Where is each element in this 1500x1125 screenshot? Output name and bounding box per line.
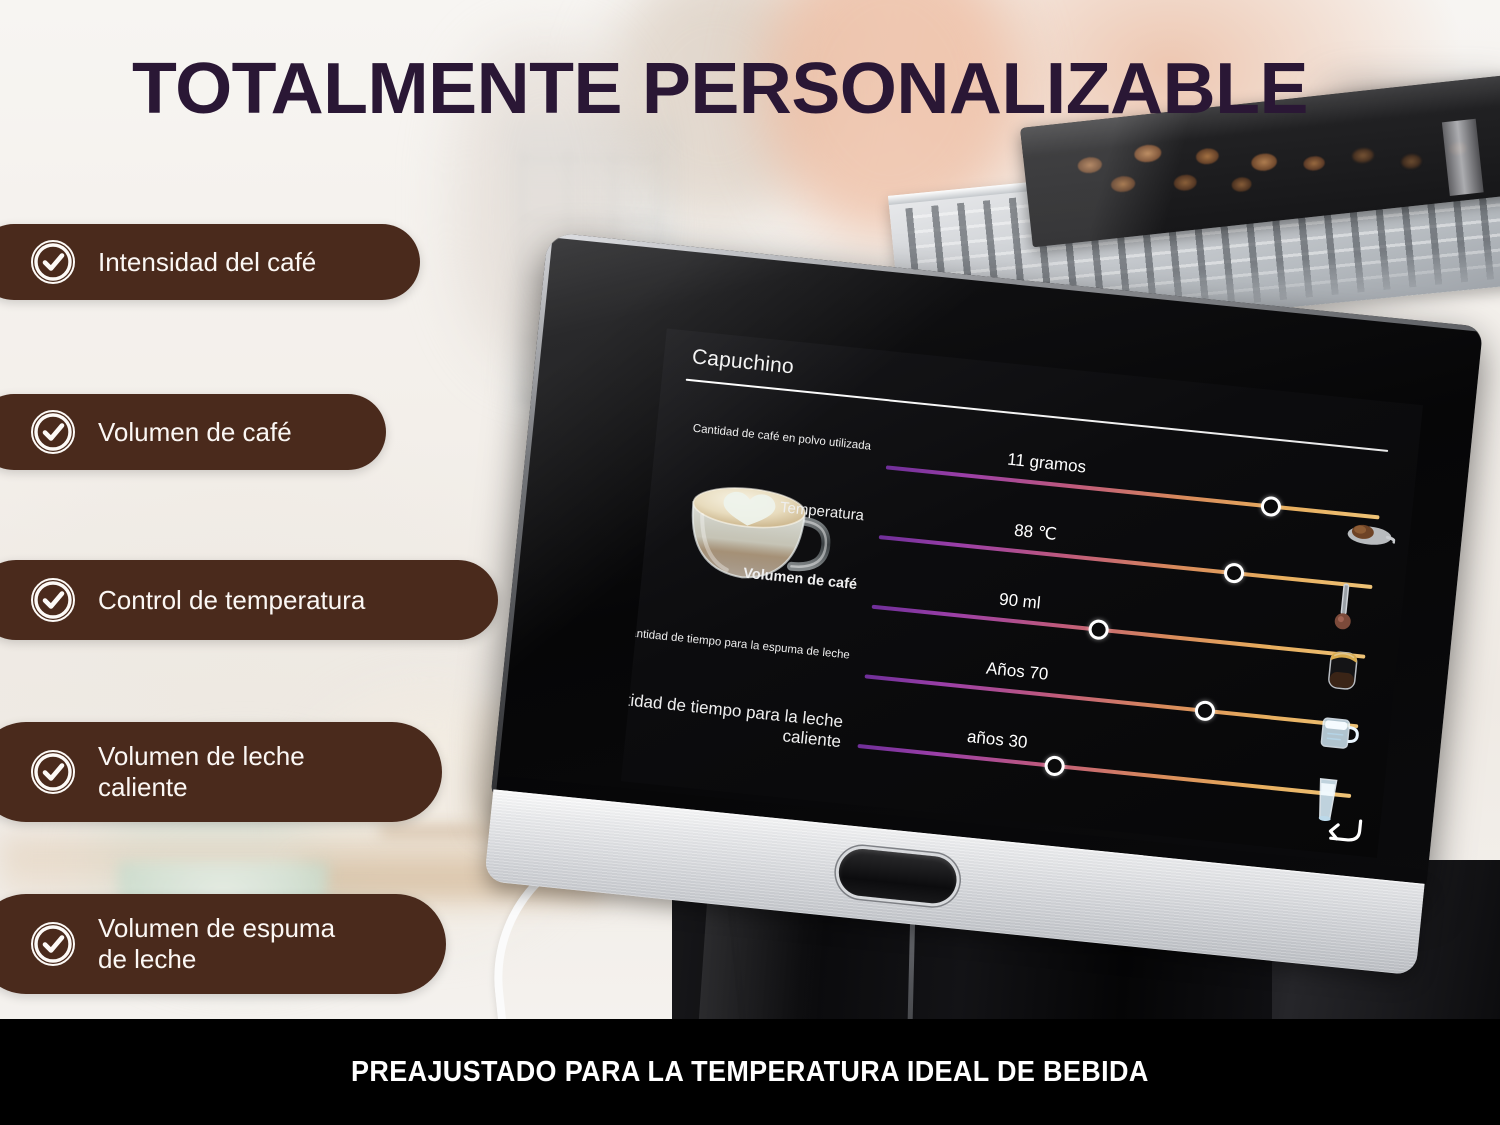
back-arrow-icon[interactable]: [1317, 811, 1367, 854]
setting-value: 90 ml: [998, 590, 1041, 614]
slider-knob[interactable]: [1194, 700, 1216, 722]
feature-label: Volumen de café: [98, 417, 292, 448]
setting-label: Cantidad de café en polvo utilizada: [621, 410, 872, 454]
settings-list: Cantidad de café en polvo utilizada 11 g…: [621, 329, 1423, 858]
check-circle-icon: [30, 239, 76, 285]
feature-label: Volumen de espuma de leche: [98, 913, 335, 974]
milk-foam-mug-icon: [1313, 709, 1383, 780]
setting-value: 11 gramos: [1006, 450, 1087, 478]
slider-knob[interactable]: [1223, 562, 1245, 584]
check-circle-icon: [30, 409, 76, 455]
setting-value: 88 ℃: [1013, 521, 1058, 545]
feature-list: Intensidad del café Volumen de café Cont…: [0, 0, 560, 1000]
feature-pill-control-de-temperatura[interactable]: Control de temperatura: [0, 560, 498, 640]
setting-slider-track[interactable]: [886, 465, 1380, 519]
feature-pill-volumen-de-leche-caliente[interactable]: Volumen de leche caliente: [0, 722, 442, 822]
coffee-spoon-icon: [1333, 515, 1403, 586]
check-circle-icon: [30, 921, 76, 967]
display-unit: Capuchino: [478, 232, 1483, 1013]
touchscreen-display[interactable]: Capuchino: [621, 329, 1423, 858]
check-circle-icon: [30, 749, 76, 795]
slider-knob[interactable]: [1088, 619, 1110, 641]
bottom-banner: PREAJUSTADO PARA LA TEMPERATURA IDEAL DE…: [0, 1019, 1500, 1125]
feature-label: Intensidad del café: [98, 247, 316, 278]
coffee-cup-icon: [1320, 645, 1390, 716]
feature-label: Volumen de leche caliente: [98, 741, 305, 802]
banner-text: PREAJUSTADO PARA LA TEMPERATURA IDEAL DE…: [351, 1056, 1149, 1089]
thermometer-icon: [1326, 580, 1396, 651]
check-circle-icon: [30, 577, 76, 623]
display-bezel: Capuchino: [490, 232, 1483, 894]
slider-knob[interactable]: [1260, 495, 1282, 517]
slider-knob[interactable]: [1044, 755, 1066, 777]
feature-pill-volumen-de-espuma-de-leche[interactable]: Volumen de espuma de leche: [0, 894, 446, 994]
feature-label: Control de temperatura: [98, 585, 365, 616]
feature-pill-intensidad-del-cafe[interactable]: Intensidad del café: [0, 224, 420, 300]
feature-pill-volumen-de-cafe[interactable]: Volumen de café: [0, 394, 386, 470]
